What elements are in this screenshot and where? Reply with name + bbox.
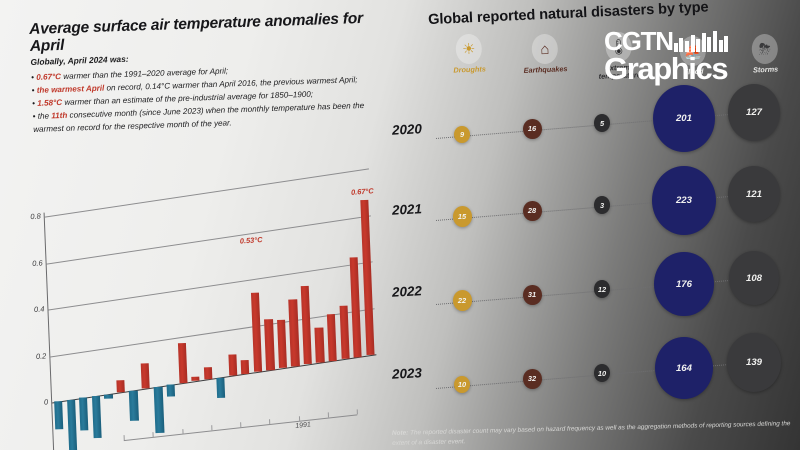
disaster-count-bubble[interactable]: 164 [655,337,713,399]
cgtn-graphics-logo: CGTN Graphics [604,30,790,83]
chart-bars [17,169,387,181]
gridline [45,169,369,218]
chart-bar [289,299,300,366]
logo-bar [724,36,728,52]
chart-bar [167,385,176,397]
note-text: The reported disaster count may vary bas… [392,420,790,446]
legend-item-earthquake[interactable]: ⌂Earthquakes [511,33,578,76]
chart-bar [301,285,312,364]
chart-note: Note: The reported disaster count may va… [392,419,796,448]
x-axis-tick [357,409,358,414]
chart-bar [154,387,164,434]
disaster-count-bubble[interactable]: 16 [523,119,542,140]
disaster-count-bubble[interactable]: 15 [453,206,472,227]
x-axis-tick [298,416,299,421]
year-label: 2021 [392,201,423,218]
note-label: Note: [392,430,409,437]
disaster-count-bubble[interactable]: 139 [727,333,782,392]
drought-icon: ☀ [455,34,482,65]
disaster-count-bubble[interactable]: 5 [594,114,610,131]
logo-bar [707,37,711,52]
chart-bar [177,343,187,383]
disaster-year-row: 20209165201127 [384,96,800,174]
disaster-count-bubble[interactable]: 32 [523,369,542,390]
disaster-count-bubble[interactable]: 10 [454,376,470,393]
year-label: 2022 [392,283,423,300]
disaster-count-bubble[interactable]: 28 [523,201,542,222]
x-axis-tick [153,432,154,437]
disaster-count-bubble[interactable]: 31 [523,285,542,306]
chart-bar [360,200,374,356]
y-axis-tick-label: 0.8 [18,212,41,222]
logo-bar [679,38,683,52]
legend-label: Earthquakes [512,65,578,76]
x-axis-tick [182,429,183,434]
chart-x-ticks [17,169,387,181]
chart-bar [54,401,63,429]
disaster-year-rows: 2020916520112720211528322312120222231121… [384,96,800,416]
chart-bar [264,319,274,370]
chart-bar [191,376,199,381]
y-axis-tick-label: 0.2 [24,351,47,361]
y-axis-tick-label: 0.4 [22,305,45,315]
bullet-highlight: the warmest April [37,83,105,94]
disaster-count-bubble[interactable]: 108 [729,251,779,305]
chart-bar [204,368,213,380]
disaster-count-bubble[interactable]: 127 [728,84,781,141]
x-axis-tick [240,422,241,427]
gridline [47,215,371,264]
x-axis-tick [124,435,125,440]
disaster-count-bubble[interactable]: 10 [594,364,610,381]
y-axis-tick-label: 0 [26,397,49,407]
earthquake-icon: ⌂ [531,34,558,65]
chart-bar [129,390,138,420]
disaster-count-bubble[interactable]: 22 [453,290,472,311]
disaster-year-row: 2023103210164139 [384,340,800,418]
temperature-anomaly-chart: 00.20.40.60.8 0.53°C0.67°C 1991 [17,169,398,449]
logo-bar [691,35,695,52]
chart-bar [251,293,262,372]
chart-bar [92,396,102,438]
summary-bullet-list: Globally, April 2024 was: 0.67°C warmer … [30,44,391,136]
chart-bar [339,305,349,359]
x-axis-tick [269,419,270,424]
chart-bar [228,355,237,376]
chart-x-tick-label: 1991 [295,421,311,430]
disaster-count-bubble[interactable]: 223 [652,166,716,235]
chart-gridlines [17,169,387,181]
chart-y-tick-labels: 00.20.40.60.8 [17,169,387,181]
chart-bar [79,398,89,431]
bullet-highlight: 11th [51,111,67,121]
chart-bar [327,314,337,361]
bar-value-label: 0.67°C [350,186,373,197]
chart-zero-line [52,354,377,404]
disaster-count-bubble[interactable]: 9 [454,126,470,143]
bar-value-label: 0.53°C [239,235,262,246]
chart-bar [141,363,150,389]
legend-label: Droughts [436,65,502,76]
disaster-count-bubble[interactable]: 12 [594,280,610,297]
year-label: 2020 [392,121,423,138]
chart-bar [116,381,125,393]
y-axis-tick-label: 0.6 [20,258,43,268]
disaster-count-bubble[interactable]: 3 [594,196,610,213]
disaster-count-bubble[interactable]: 201 [653,85,715,152]
logo-bar [702,33,706,52]
chart-bar [315,328,325,363]
logo-bar [696,39,700,52]
disaster-count-bubble[interactable]: 121 [728,166,780,222]
natural-disasters-panel: Global reported natural disasters by typ… [384,0,800,450]
legend-item-drought[interactable]: ☀Droughts [435,33,502,76]
disaster-year-row: 2022223112176108 [384,258,800,336]
chart-bar [241,360,250,374]
chart-bar [67,400,77,450]
bullet-pre: the [38,111,52,120]
gridline [48,261,372,310]
x-axis-tick [328,413,329,418]
chart-bar [104,394,112,399]
cgtn-bars-icon [674,31,728,52]
x-axis-tick [211,425,212,430]
disaster-count-bubble[interactable]: 176 [654,252,713,316]
cgtn-graphics-wordmark: Graphics [604,55,790,84]
year-label: 2023 [392,365,423,382]
bullet-highlight: 0.67°C [36,72,61,82]
bullet-highlight: 1.58°C [37,98,62,108]
temperature-anomaly-panel: Average surface air temperature anomalie… [0,0,410,450]
chart-bar [216,377,225,398]
disasters-title: Global reported natural disasters by typ… [428,0,788,28]
chart-bar [350,257,362,357]
logo-bar [713,31,717,52]
chart-annotations: 0.53°C0.67°C [17,169,387,181]
chart-bar [277,319,287,368]
disaster-year-row: 202115283223121 [384,176,800,254]
